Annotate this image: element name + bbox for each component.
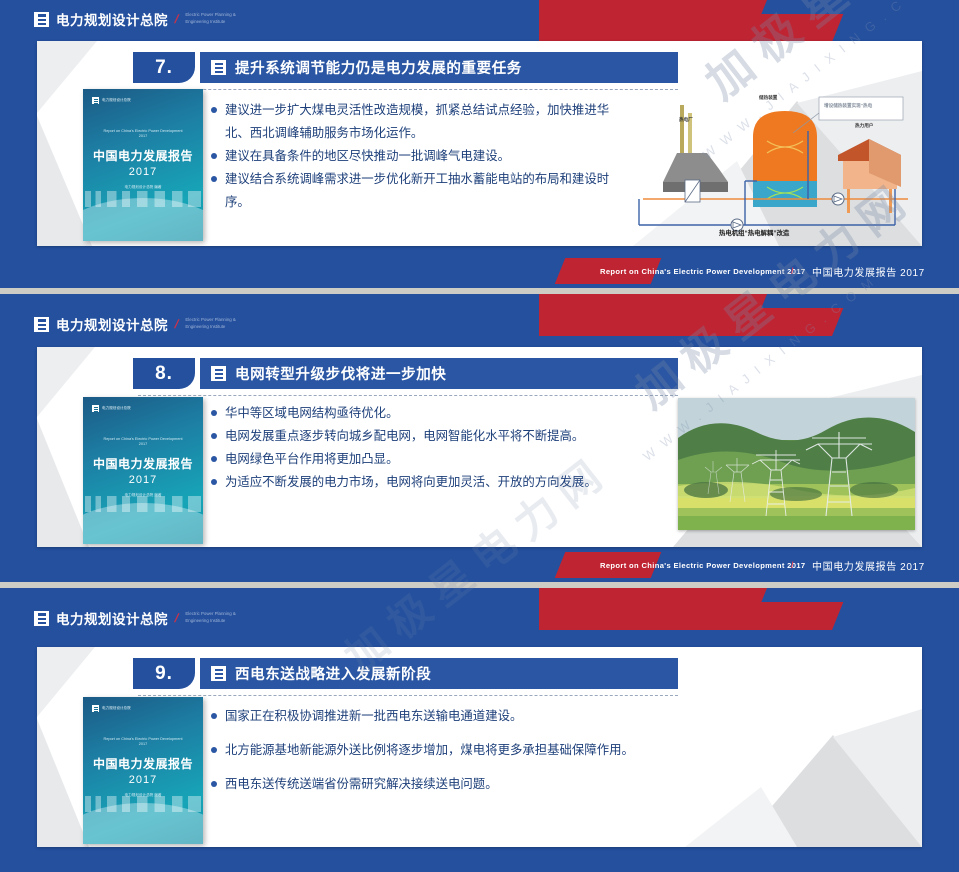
- bullet-dot-icon: [211, 176, 217, 182]
- cover-logo-text: 电力规划设计总院: [102, 706, 131, 711]
- diagram-graphic: [633, 87, 918, 245]
- brand-name-cn: 电力规划设计总院: [56, 314, 168, 334]
- cover-logo-text: 电力规划设计总院: [102, 406, 131, 411]
- report-cover-image: 电力规划设计总院 Report on China's Electric Powe…: [83, 697, 203, 844]
- cover-subtitle-en: Report on China's Electric Power Develop…: [83, 437, 203, 448]
- cover-skyline-art: [83, 198, 203, 241]
- slide-9[interactable]: 电力规划设计总院 / Electric Power Planning & Eng…: [0, 588, 959, 872]
- institute-logo-icon: [34, 611, 49, 626]
- cover-logo-icon: [92, 97, 99, 104]
- brand-slash-icon: /: [173, 317, 180, 331]
- brand-logo: 电力规划设计总院 / Electric Power Planning & Eng…: [34, 314, 236, 334]
- bullet-dot-icon: [211, 433, 217, 439]
- decorative-red-stripe: [539, 0, 849, 42]
- cover-subtitle-en-line2: 2017: [139, 442, 147, 446]
- diagram-label-user: 热力用户: [855, 123, 873, 129]
- list-item: 华中等区域电网结构亟待优化。: [211, 402, 691, 425]
- slide-content-card: 9. 西电东送战略进入发展新阶段 电力规划设计总院 Report on Chin…: [37, 647, 922, 847]
- list-item: 建议结合系统调峰需求进一步优化新开工抽水蓄能电站的布局和建设时序。: [211, 168, 611, 214]
- cover-publisher: 电力规划设计总院 编著: [83, 185, 203, 190]
- footer-text-en: Report on China's Electric Power Develop…: [600, 267, 805, 276]
- chp-decoupling-diagram: 热电厂 储热装置 增设储热装置实现“热电 热力用户 热电机组“热电解耦”改造: [633, 87, 918, 245]
- report-cover-image: 电力规划设计总院 Report on China's Electric Powe…: [83, 397, 203, 544]
- bullet-text: 建议在具备条件的地区尽快推动一批调峰气电建设。: [225, 145, 611, 168]
- cover-title-cn: 中国电力发展报告: [83, 147, 203, 164]
- footer-separator-icon: /: [791, 266, 794, 276]
- decorative-band: [539, 294, 959, 336]
- decorative-band: [539, 0, 959, 42]
- bullet-text: 国家正在积极协调推进新一批西电东送输电通道建设。: [225, 705, 751, 728]
- cover-subtitle-en: Report on China's Electric Power Develop…: [83, 737, 203, 748]
- slide-number-badge: 9.: [133, 658, 195, 689]
- photo-graphic: [678, 398, 915, 530]
- cover-title-cn: 中国电力发展报告: [83, 755, 203, 772]
- slide-title-bar: 提升系统调节能力仍是电力发展的重要任务: [200, 52, 678, 83]
- cover-logo: 电力规划设计总院: [92, 405, 131, 412]
- bullet-dot-icon: [211, 153, 217, 159]
- diagram-label-callout: 增设储热装置实现“热电: [824, 103, 872, 109]
- list-item: 西电东送传统送端省份需研究解决接续送电问题。: [211, 773, 751, 796]
- cover-logo: 电力规划设计总院: [92, 97, 131, 104]
- institute-logo-icon: [34, 12, 49, 27]
- bullet-text: 电网发展重点逐步转向城乡配电网，电网智能化水平将不断提高。: [225, 425, 691, 448]
- slide-content-card: 8. 电网转型升级步伐将进一步加快 电力规划设计总院 Report on Chi…: [37, 347, 922, 547]
- slide-bullet-list: 华中等区域电网结构亟待优化。 电网发展重点逐步转向城乡配电网，电网智能化水平将不…: [211, 402, 691, 494]
- slide-title-row: 7. 提升系统调节能力仍是电力发展的重要任务: [133, 52, 678, 83]
- slide-bullet-list: 国家正在积极协调推进新一批西电东送输电通道建设。 北方能源基地新能源外送比例将逐…: [211, 705, 751, 796]
- decorative-band: [539, 588, 959, 630]
- bullet-dot-icon: [211, 107, 217, 113]
- brand-name-cn: 电力规划设计总院: [56, 9, 168, 29]
- slide-title-row: 8. 电网转型升级步伐将进一步加快: [133, 358, 678, 389]
- cover-subtitle-en: Report on China's Electric Power Develop…: [83, 129, 203, 140]
- title-divider: [138, 395, 678, 396]
- slide-8[interactable]: 电力规划设计总院 / Electric Power Planning & Eng…: [0, 294, 959, 582]
- brand-name-en: Electric Power Planning & Engineering In…: [185, 317, 236, 331]
- cover-subtitle-en-line1: Report on China's Electric Power Develop…: [103, 737, 182, 741]
- bullet-dot-icon: [211, 410, 217, 416]
- list-item: 电网绿色平台作用将更加凸显。: [211, 448, 691, 471]
- cover-subtitle-en-line2: 2017: [139, 134, 147, 138]
- transmission-tower-photo: [678, 398, 915, 530]
- slide-title-bar: 西电东送战略进入发展新阶段: [200, 658, 678, 689]
- bullet-dot-icon: [211, 456, 217, 462]
- bullet-text: 华中等区域电网结构亟待优化。: [225, 402, 691, 425]
- cover-subtitle-en-line1: Report on China's Electric Power Develop…: [103, 129, 182, 133]
- decorative-red-stripe: [539, 294, 849, 336]
- slide-footer: Report on China's Electric Power Develop…: [0, 258, 959, 284]
- decorative-blue-notch: [761, 0, 959, 14]
- brand-logo: 电力规划设计总院 / Electric Power Planning & Eng…: [34, 9, 236, 29]
- cover-year: 2017: [83, 166, 203, 178]
- cover-logo-icon: [92, 705, 99, 712]
- list-item: 北方能源基地新能源外送比例将逐步增加，煤电将更多承担基础保障作用。: [211, 739, 751, 762]
- slide-number-badge: 7.: [133, 52, 195, 83]
- cover-skyline-art: [83, 803, 203, 844]
- bullet-text: 西电东送传统送端省份需研究解决接续送电问题。: [225, 773, 751, 796]
- slide-title: 西电东送战略进入发展新阶段: [235, 663, 431, 684]
- slide-footer: Report on China's Electric Power Develop…: [0, 552, 959, 578]
- bullet-dot-icon: [211, 479, 217, 485]
- brand-name-en-line2: Engineering Institute: [185, 19, 225, 24]
- list-item: 建议在具备条件的地区尽快推动一批调峰气电建设。: [211, 145, 611, 168]
- bullet-text: 建议进一步扩大煤电灵活性改造规模，抓紧总结试点经验，加快推进华北、西北调峰辅助服…: [225, 99, 611, 145]
- screenshot-page: 电力规划设计总院 / Electric Power Planning & Eng…: [0, 0, 959, 872]
- brand-name-cn: 电力规划设计总院: [56, 608, 168, 628]
- brand-name-en-line1: Electric Power Planning &: [185, 12, 236, 17]
- title-divider: [138, 89, 678, 90]
- brand-name-en-line2: Engineering Institute: [185, 324, 225, 329]
- cover-logo-text: 电力规划设计总院: [102, 98, 131, 103]
- brand-slash-icon: /: [173, 12, 180, 26]
- slide-content-card: 7. 提升系统调节能力仍是电力发展的重要任务 电力规划设计总院 Report o…: [37, 41, 922, 246]
- brand-name-en-line1: Electric Power Planning &: [185, 611, 236, 616]
- list-item: 为适应不断发展的电力市场，电网将向更加灵活、开放的方向发展。: [211, 471, 691, 494]
- footer-separator-icon: /: [791, 560, 794, 570]
- decorative-red-stripe: [539, 588, 849, 630]
- slide-title-row: 9. 西电东送战略进入发展新阶段: [133, 658, 678, 689]
- slide-title: 电网转型升级步伐将进一步加快: [235, 363, 446, 384]
- decorative-blue-notch: [761, 588, 959, 602]
- cover-skyline-art: [83, 503, 203, 544]
- slide-7[interactable]: 电力规划设计总院 / Electric Power Planning & Eng…: [0, 0, 959, 288]
- bullet-dot-icon: [211, 747, 217, 753]
- bullet-dot-icon: [211, 713, 217, 719]
- footer-text-en: Report on China's Electric Power Develop…: [600, 561, 805, 570]
- brand-logo: 电力规划设计总院 / Electric Power Planning & Eng…: [34, 608, 236, 628]
- diagram-caption: 热电机组“热电解耦”改造: [719, 228, 789, 237]
- list-item: 国家正在积极协调推进新一批西电东送输电通道建设。: [211, 705, 751, 728]
- title-logo-icon: [211, 60, 226, 75]
- institute-logo-icon: [34, 317, 49, 332]
- brand-name-en-line2: Engineering Institute: [185, 618, 225, 623]
- brand-name-en: Electric Power Planning & Engineering In…: [185, 611, 236, 625]
- cover-logo-icon: [92, 405, 99, 412]
- brand-name-en: Electric Power Planning & Engineering In…: [185, 12, 236, 26]
- bullet-text: 电网绿色平台作用将更加凸显。: [225, 448, 691, 471]
- list-item: 电网发展重点逐步转向城乡配电网，电网智能化水平将不断提高。: [211, 425, 691, 448]
- cover-title-cn: 中国电力发展报告: [83, 455, 203, 472]
- cover-year: 2017: [83, 474, 203, 486]
- decorative-blue-notch: [761, 294, 959, 308]
- bullet-dot-icon: [211, 781, 217, 787]
- title-logo-icon: [211, 666, 226, 681]
- cover-subtitle-en-line1: Report on China's Electric Power Develop…: [103, 437, 182, 441]
- cover-year: 2017: [83, 774, 203, 786]
- diagram-label-plant: 热电厂: [679, 117, 693, 123]
- footer-text-cn: 中国电力发展报告 2017: [812, 558, 925, 573]
- report-cover-image: 电力规划设计总院 Report on China's Electric Powe…: [83, 89, 203, 241]
- brand-name-en-line1: Electric Power Planning &: [185, 317, 236, 322]
- slide-title: 提升系统调节能力仍是电力发展的重要任务: [235, 57, 522, 78]
- bullet-text: 建议结合系统调峰需求进一步优化新开工抽水蓄能电站的布局和建设时序。: [225, 168, 611, 214]
- cover-subtitle-en-line2: 2017: [139, 742, 147, 746]
- diagram-label-storage: 储热装置: [759, 95, 777, 101]
- bullet-text: 北方能源基地新能源外送比例将逐步增加，煤电将更多承担基础保障作用。: [225, 739, 751, 762]
- cover-logo: 电力规划设计总院: [92, 705, 131, 712]
- bullet-text: 为适应不断发展的电力市场，电网将向更加灵活、开放的方向发展。: [225, 471, 691, 494]
- slide-bullet-list: 建议进一步扩大煤电灵活性改造规模，抓紧总结试点经验，加快推进华北、西北调峰辅助服…: [211, 99, 611, 214]
- slide-number-badge: 8.: [133, 358, 195, 389]
- brand-slash-icon: /: [173, 611, 180, 625]
- title-divider: [138, 695, 678, 696]
- footer-text-cn: 中国电力发展报告 2017: [812, 264, 925, 279]
- slide-title-bar: 电网转型升级步伐将进一步加快: [200, 358, 678, 389]
- list-item: 建议进一步扩大煤电灵活性改造规模，抓紧总结试点经验，加快推进华北、西北调峰辅助服…: [211, 99, 611, 145]
- title-logo-icon: [211, 366, 226, 381]
